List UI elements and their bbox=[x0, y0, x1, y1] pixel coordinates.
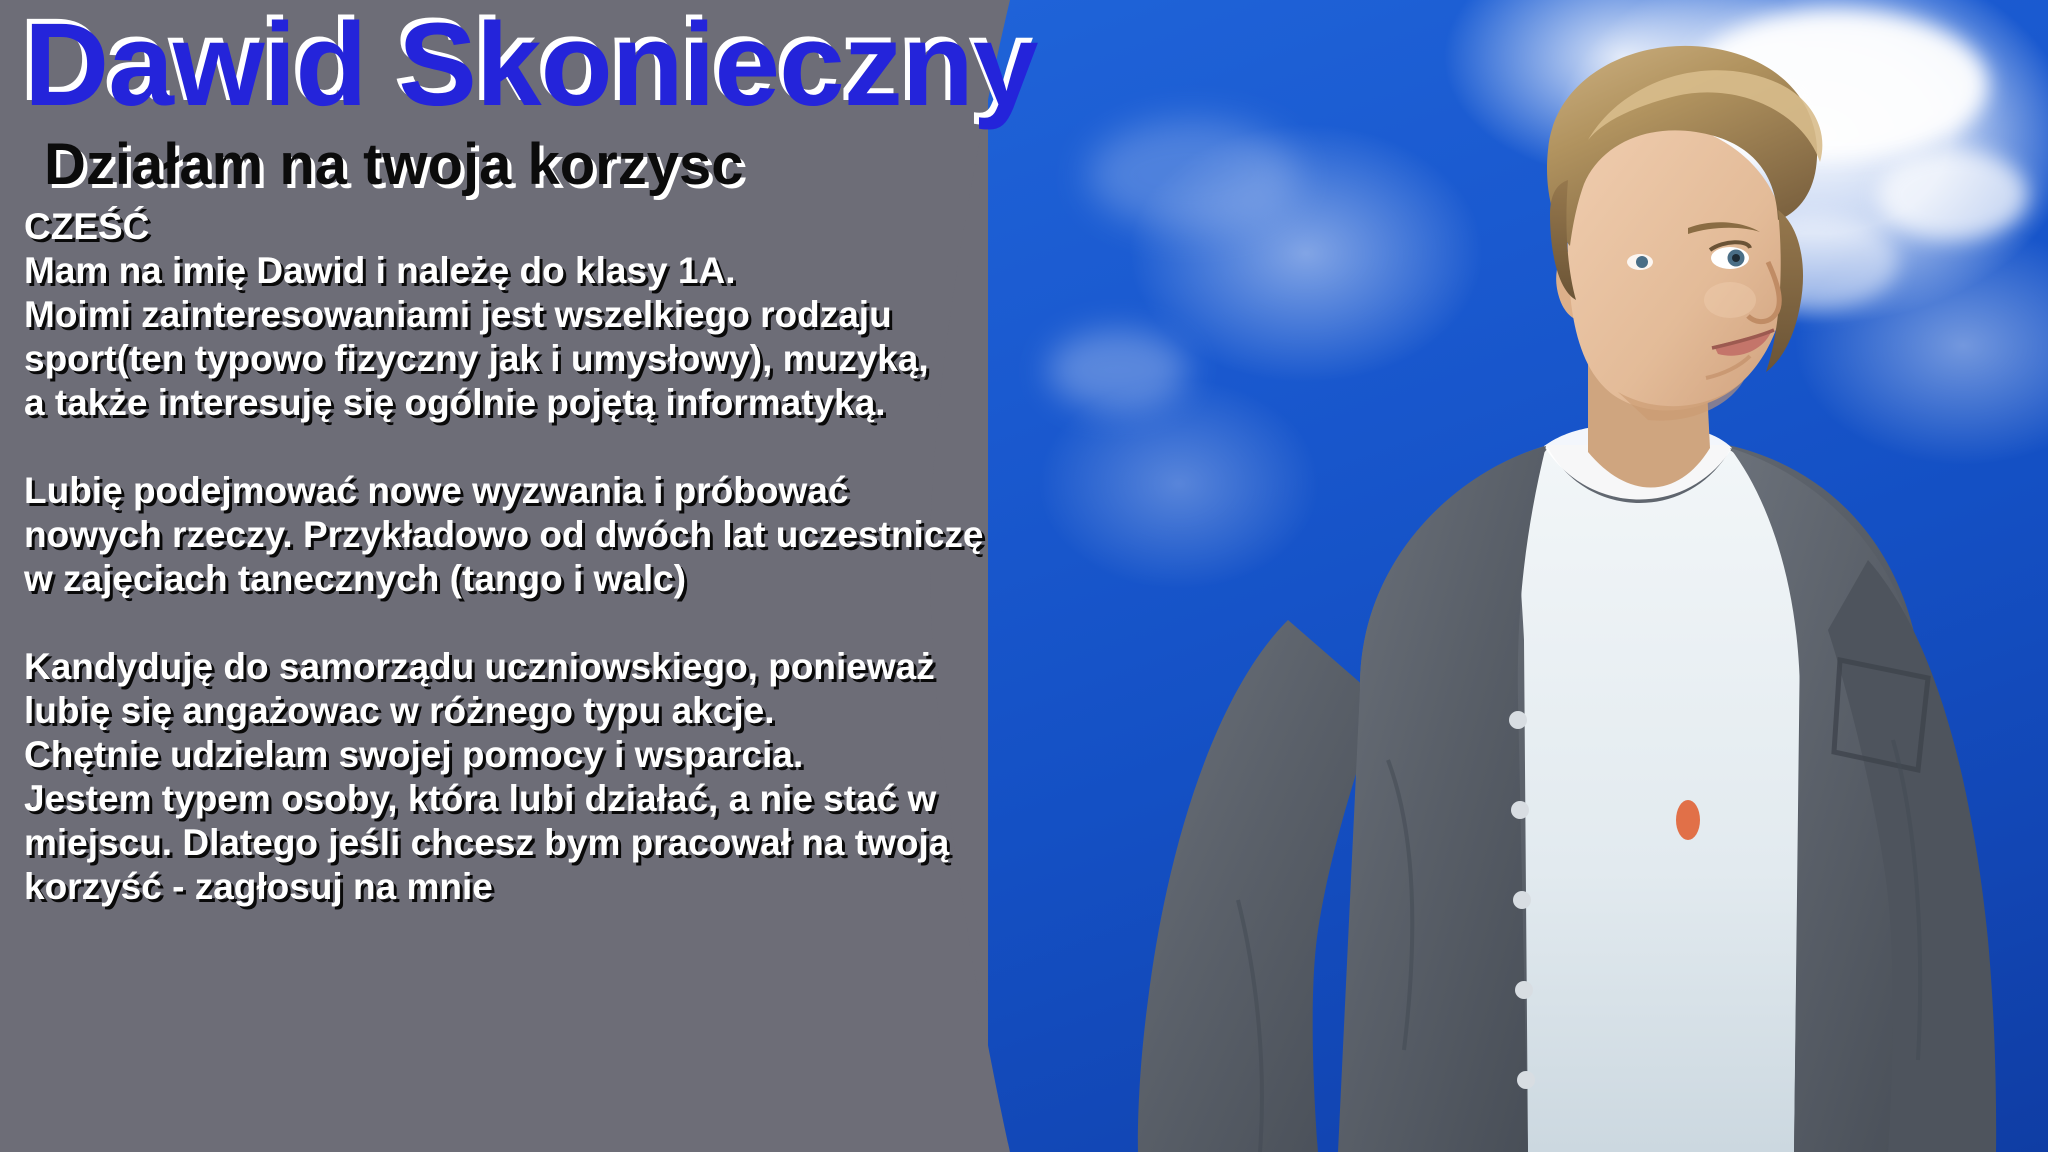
body-text: CZEŚĆMam na imię Dawid i należę do klasy… bbox=[24, 205, 984, 909]
body-line: lubię się angażowac w różnego typu akcje… bbox=[24, 689, 984, 733]
paragraph-gap bbox=[24, 425, 984, 469]
body-paragraph: Kandyduję do samorządu uczniowskiego, po… bbox=[24, 645, 984, 909]
body-line: Mam na imię Dawid i należę do klasy 1A. bbox=[24, 249, 984, 293]
body-paragraph: CZEŚĆMam na imię Dawid i należę do klasy… bbox=[24, 205, 984, 425]
body-line: Moimi zainteresowaniami jest wszelkiego … bbox=[24, 293, 984, 337]
photo-panel bbox=[988, 0, 2048, 1152]
body-line: w zajęciach tanecznych (tango i walc) bbox=[24, 557, 984, 601]
body-line: korzyść - zagłosuj na mnie bbox=[24, 865, 984, 909]
body-line: Chętnie udzielam swojej pomocy i wsparci… bbox=[24, 733, 984, 777]
body-line: Kandyduję do samorządu uczniowskiego, po… bbox=[24, 645, 984, 689]
poster-canvas: Dawid Skonieczny Działam na twoja korzys… bbox=[0, 0, 2048, 1152]
body-line: sport(ten typowo fizyczny jak i umysłowy… bbox=[24, 337, 984, 381]
body-paragraph: Lubię podejmować nowe wyzwania i próbowa… bbox=[24, 469, 984, 601]
body-line: Jestem typem osoby, która lubi działać, … bbox=[24, 777, 984, 821]
text-layer: Dawid Skonieczny Działam na twoja korzys… bbox=[0, 0, 1040, 1152]
page-title: Dawid Skonieczny bbox=[24, 4, 1038, 128]
body-line: miejscu. Dlatego jeśli chcesz bym pracow… bbox=[24, 821, 984, 865]
body-line: CZEŚĆ bbox=[24, 205, 984, 249]
body-line: Lubię podejmować nowe wyzwania i próbowa… bbox=[24, 469, 984, 513]
portrait-photo bbox=[988, 0, 2048, 1152]
body-line: nowych rzeczy. Przykładowo od dwóch lat … bbox=[24, 513, 984, 557]
body-line: a także interesuję się ogólnie pojętą in… bbox=[24, 381, 984, 425]
page-subtitle: Działam na twoja korzysc bbox=[44, 135, 743, 196]
paragraph-gap bbox=[24, 601, 984, 645]
